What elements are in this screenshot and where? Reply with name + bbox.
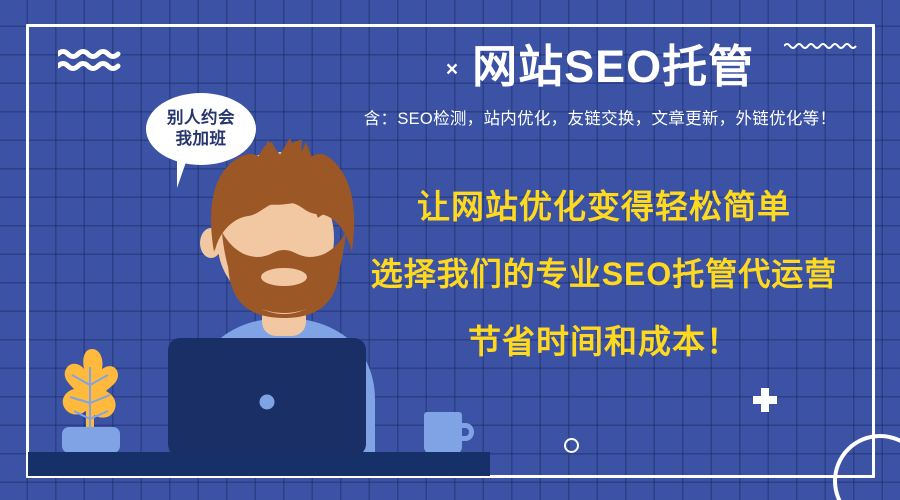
slogan-line-3: 节省时间和成本！	[340, 325, 868, 358]
slogan-line-1: 让网站优化变得轻松简单	[340, 190, 868, 223]
slogan-block: 让网站优化变得轻松简单 选择我们的专业SEO托管代运营 节省时间和成本！	[340, 190, 868, 358]
potted-plant-icon	[56, 345, 128, 455]
coffee-mug-icon	[424, 412, 478, 454]
seo-banner: × 网站SEO托管 含：SEO检测，站内优化，友链交换，文章更新，外链优化等！ …	[0, 0, 900, 500]
laptop-logo-dot	[260, 394, 275, 409]
close-icon: ×	[446, 59, 458, 80]
speech-bubble-line-2: 我加班	[176, 129, 227, 150]
speech-bubble-line-1: 别人约会	[167, 108, 235, 129]
laptop-icon	[168, 338, 366, 456]
plus-icon	[753, 388, 777, 412]
page-title: 网站SEO托管	[472, 42, 754, 92]
page-subtitle: 含：SEO检测，站内优化，友链交换，文章更新，外链优化等！	[340, 105, 860, 129]
title-row: × 网站SEO托管	[340, 42, 860, 92]
slogan-line-2: 选择我们的专业SEO托管代运营	[340, 258, 868, 290]
mug-handle	[457, 423, 474, 441]
wavy-lines-icon	[58, 48, 122, 72]
small-circle-outline-icon	[564, 438, 579, 453]
headline-block: × 网站SEO托管 含：SEO检测，站内优化，友链交换，文章更新，外链优化等！	[340, 42, 860, 129]
speech-bubble: 别人约会 我加班	[146, 93, 256, 165]
